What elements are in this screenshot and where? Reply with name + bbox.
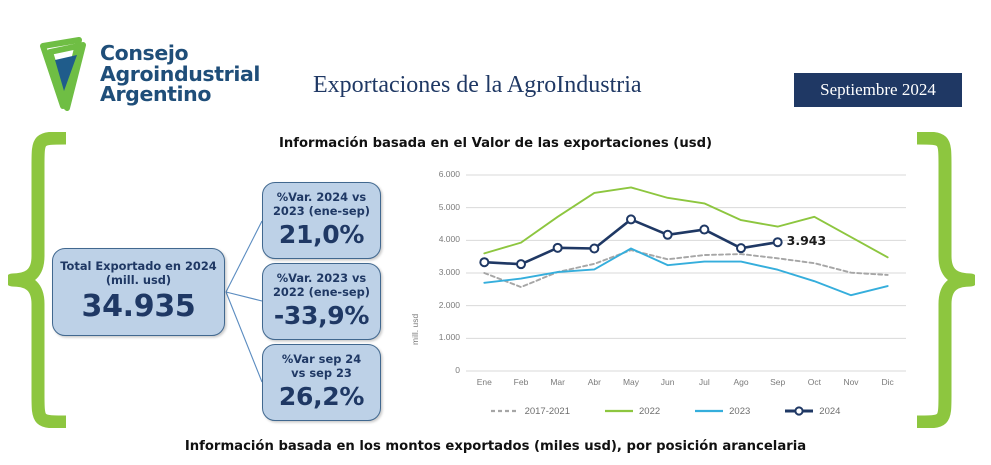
variation-3-value: 26,2% <box>279 383 364 412</box>
chart-data-point <box>700 226 708 234</box>
chart-caption-top: Información basada en el Valor de las ex… <box>0 136 991 151</box>
chart-data-point <box>554 244 562 252</box>
chart-caption-bottom: Información basada en los montos exporta… <box>0 439 991 454</box>
variation-box-2024-vs-2023[interactable]: %Var. 2024 vs 2023 (ene-sep) 21,0% <box>262 182 381 259</box>
brand-logo: Consejo Agroindustrial Argentino <box>33 36 260 112</box>
variation-2-label: %Var. 2023 vs 2022 (ene-sep) <box>273 272 370 300</box>
legend-swatch-icon <box>784 405 814 417</box>
chart-data-point <box>664 231 672 239</box>
brand-line-3: Argentino <box>100 84 260 105</box>
total-exported-label-line1: Total Exportado en 2024 <box>60 259 216 273</box>
variation-3-label: %Var sep 24 vs sep 23 <box>282 353 361 381</box>
exports-line-chart: mill. usd 01.0002.0003.0004.0005.0006.00… <box>408 163 913 425</box>
chart-data-point <box>627 215 635 223</box>
chart-series-2023 <box>484 249 887 296</box>
chart-value-label: 3.943 <box>787 233 827 248</box>
variation-2-value: -33,9% <box>274 302 369 331</box>
legend-swatch-icon <box>694 405 724 417</box>
chart-data-point <box>774 238 782 246</box>
variation-3-label-line1: %Var sep 24 <box>282 352 361 366</box>
variation-3-label-line2: vs sep 23 <box>291 366 352 380</box>
total-exported-label: Total Exportado en 2024 (mill. usd) <box>60 260 216 288</box>
right-brace-decoration <box>913 132 975 428</box>
chart-plot-area <box>408 163 913 425</box>
chart-data-point <box>517 260 525 268</box>
variation-1-value: 21,0% <box>279 221 364 250</box>
total-exported-box[interactable]: Total Exportado en 2024 (mill. usd) 34.9… <box>52 248 225 336</box>
total-exported-label-line2: (mill. usd) <box>106 273 171 287</box>
slide-root: Consejo Agroindustrial Argentino Exporta… <box>0 0 991 465</box>
chart-data-point <box>480 258 488 266</box>
variation-2-label-line2: 2022 (ene-sep) <box>273 285 370 299</box>
variation-1-label: %Var. 2024 vs 2023 (ene-sep) <box>273 191 370 219</box>
variation-box-sep24-vs-sep23[interactable]: %Var sep 24 vs sep 23 26,2% <box>262 344 381 421</box>
variation-2-label-line1: %Var. 2023 vs <box>277 271 366 285</box>
variation-box-2023-vs-2022[interactable]: %Var. 2023 vs 2022 (ene-sep) -33,9% <box>262 263 381 340</box>
legend-label: 2023 <box>729 406 750 417</box>
legend-item-2017-2021[interactable]: 2017-2021 <box>490 405 570 417</box>
brand-line-1: Consejo <box>100 43 260 64</box>
variation-1-label-line2: 2023 (ene-sep) <box>273 204 370 218</box>
legend-label: 2024 <box>819 406 840 417</box>
chart-data-point <box>737 244 745 252</box>
chart-data-point <box>590 245 598 253</box>
legend-label: 2017-2021 <box>525 406 570 417</box>
legend-swatch-icon <box>490 405 520 417</box>
page-title: Exportaciones de la AgroIndustria <box>313 72 783 99</box>
legend-item-2024[interactable]: 2024 <box>784 405 840 417</box>
legend-label: 2022 <box>639 406 660 417</box>
legend-item-2023[interactable]: 2023 <box>694 405 750 417</box>
brand-line-2: Agroindustrial <box>100 64 260 85</box>
chart-series-2022 <box>484 187 887 257</box>
total-exported-value: 34.935 <box>82 290 196 325</box>
date-badge: Septiembre 2024 <box>794 73 962 107</box>
legend-swatch-icon <box>604 405 634 417</box>
variation-1-label-line1: %Var. 2024 vs <box>277 190 366 204</box>
chart-series-2024 <box>484 219 777 264</box>
brand-wordmark: Consejo Agroindustrial Argentino <box>100 43 260 106</box>
legend-item-2022[interactable]: 2022 <box>604 405 660 417</box>
chart-legend: 2017-2021202220232024 <box>430 401 900 421</box>
chart-series-2017-2021 <box>484 250 887 287</box>
agro-leaf-logo-icon <box>33 36 91 112</box>
